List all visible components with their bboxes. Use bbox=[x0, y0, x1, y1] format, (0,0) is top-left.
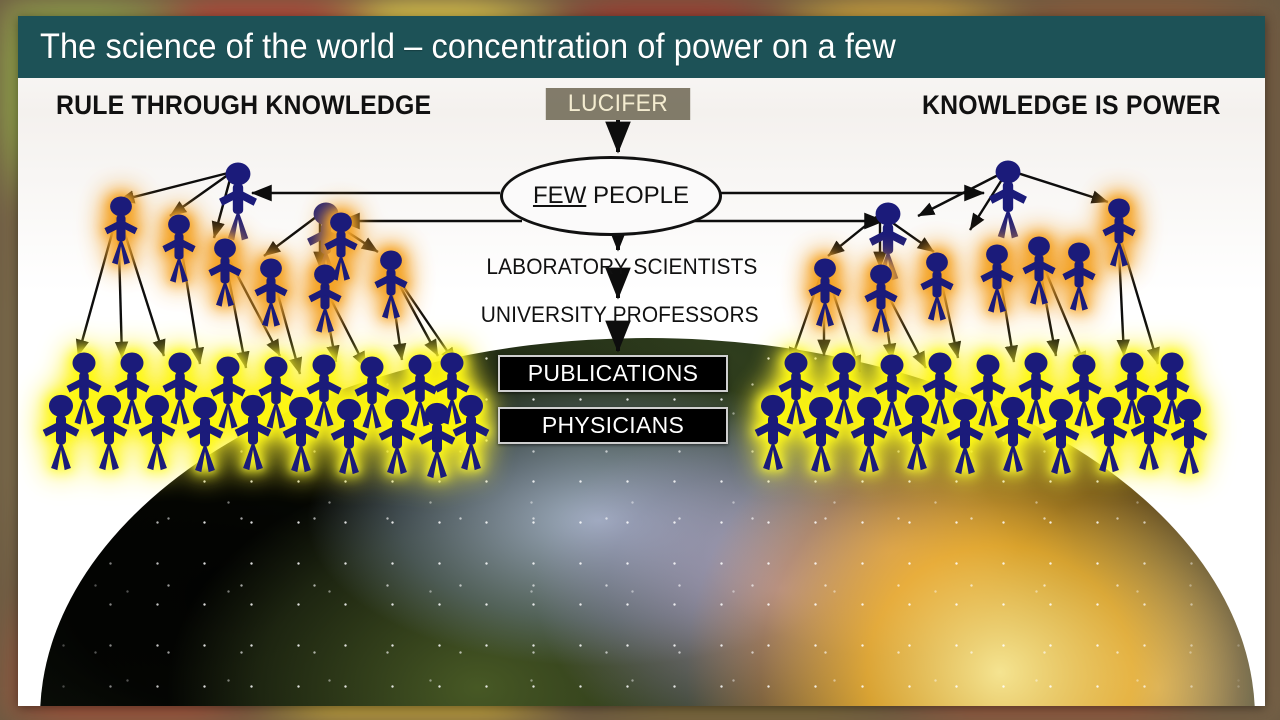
figure-masses bbox=[755, 353, 1208, 475]
figure-masses bbox=[43, 353, 490, 479]
figure-elite bbox=[219, 163, 345, 281]
few-people-node: FEW PEOPLE bbox=[500, 156, 722, 236]
figure-intermediate bbox=[808, 198, 1135, 332]
flow-label-university-professors: UNIVERSITY PROFESSORS bbox=[481, 302, 736, 328]
people-text: PEOPLE bbox=[586, 182, 689, 209]
lucifer-label: LUCIFER bbox=[546, 88, 690, 120]
few-underlined: FEW bbox=[533, 182, 586, 209]
slide-stage: The science of the world – concentration… bbox=[0, 0, 1280, 720]
flow-box-physicians: PHYSICIANS bbox=[498, 407, 728, 444]
left-hierarchy-cluster bbox=[43, 163, 490, 479]
right-cluster-arrows bbox=[790, 170, 1158, 372]
right-hierarchy-cluster bbox=[755, 161, 1208, 475]
flow-label-laboratory-scientists: LABORATORY SCIENTISTS bbox=[486, 254, 729, 280]
flow-box-publications: PUBLICATIONS bbox=[498, 355, 728, 392]
slide-panel: The science of the world – concentration… bbox=[18, 16, 1265, 706]
